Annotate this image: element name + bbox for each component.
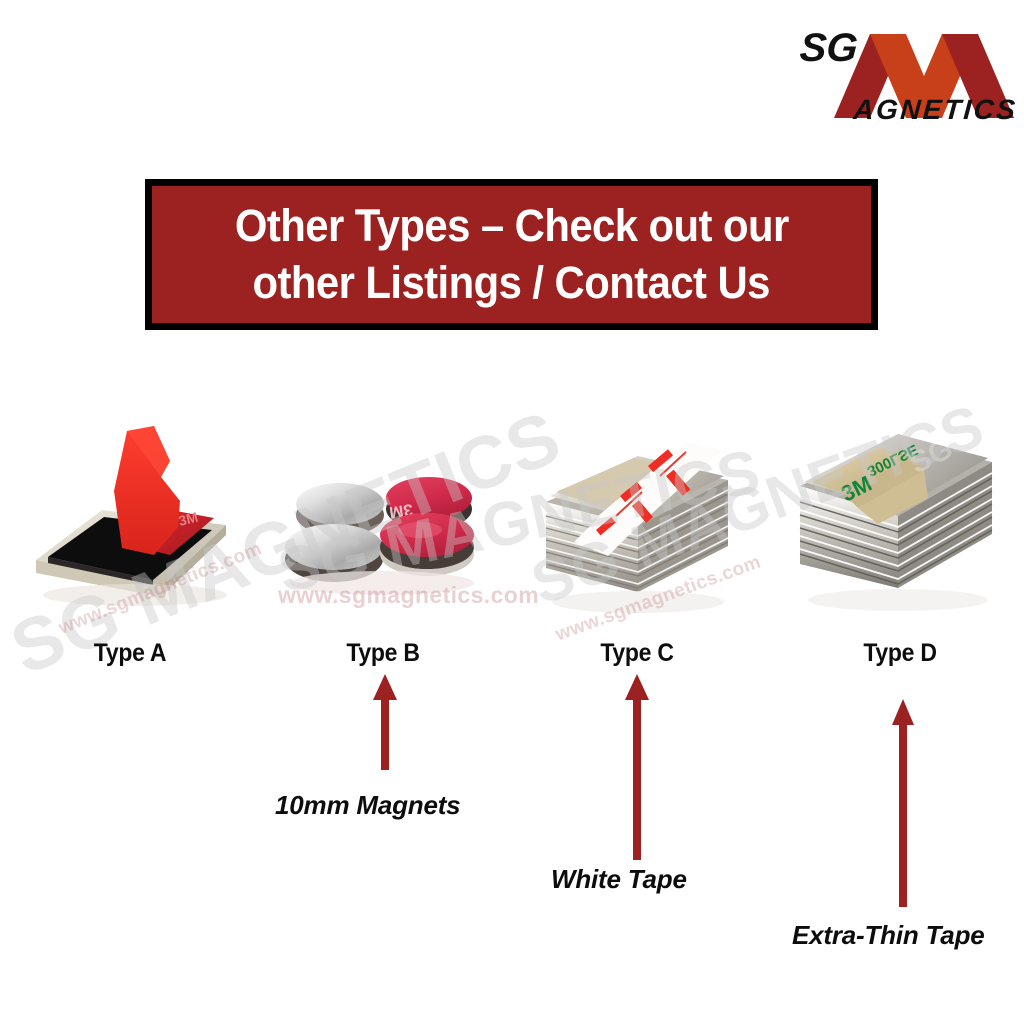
logo-agnetics-text: AGNETICS — [852, 94, 1016, 122]
label-type-a: Type A — [61, 639, 199, 668]
product-image-type-a: 3M — [30, 405, 270, 630]
product-image-type-b: 3M — [272, 455, 497, 615]
annotation-extra-thin-tape: Extra-Thin Tape — [792, 920, 985, 951]
sg-magnetics-logo: SG AGNETICS — [798, 18, 1016, 122]
product-info-graphic: SG AGNETICS Other Types – Check out our … — [0, 0, 1024, 1024]
product-image-type-c — [538, 420, 753, 625]
arrow-to-type-d — [888, 697, 918, 909]
banner-line-1: Other Types – Check out our — [235, 198, 789, 255]
annotation-white-tape: White Tape — [551, 864, 687, 895]
label-type-c: Type C — [568, 639, 706, 668]
label-type-b: Type B — [314, 639, 452, 668]
product-image-type-d: 3M 300LSE SG — [786, 412, 1014, 624]
annotation-10mm-magnets: 10mm Magnets — [275, 790, 460, 821]
arrow-to-type-c — [622, 672, 652, 862]
logo-sg-text: SG — [798, 26, 859, 70]
title-banner: Other Types – Check out our other Listin… — [145, 179, 878, 330]
label-type-d: Type D — [831, 639, 969, 668]
arrow-to-type-b — [370, 672, 400, 772]
banner-line-2: other Listings / Contact Us — [253, 255, 770, 312]
